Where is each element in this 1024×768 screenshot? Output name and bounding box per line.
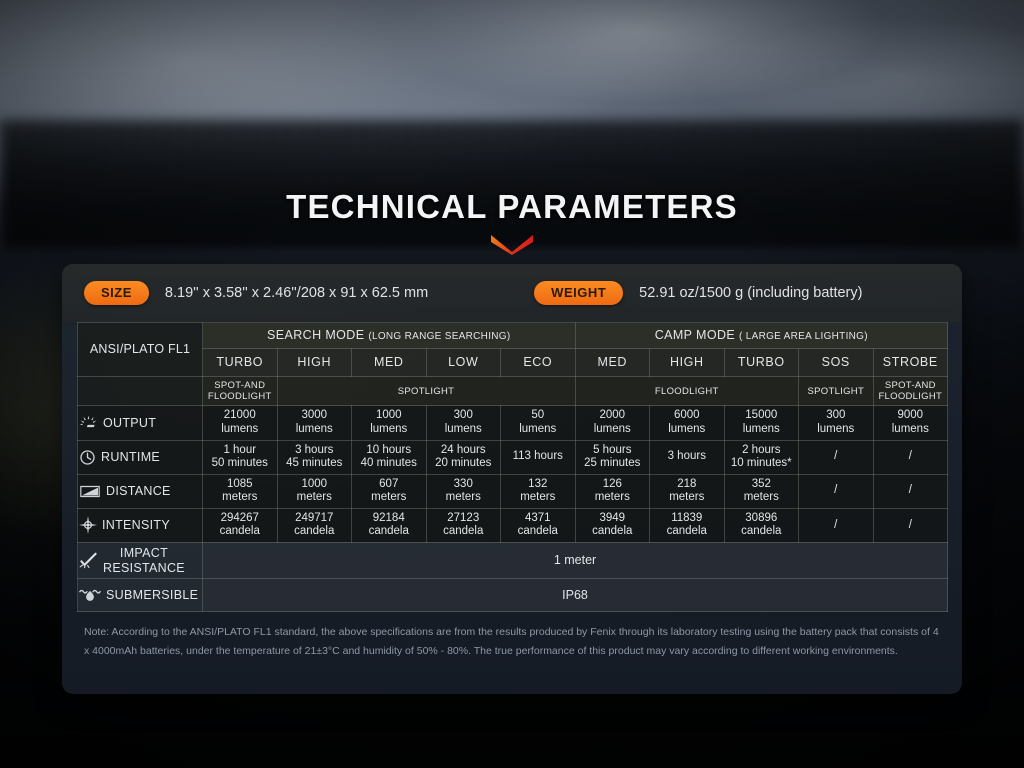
group-header-search: SEARCH MODE (LONG RANGE SEARCHING) <box>203 323 576 349</box>
cell-unit: 25 minutes <box>577 457 649 471</box>
cell-output-turbo-0: 21000lumens <box>203 406 278 440</box>
row-label-output: OUTPUT <box>78 406 203 440</box>
cell-primary: 11839 <box>651 512 723 526</box>
cell-distance-turbo-7: 352meters <box>724 474 799 508</box>
cell-output-high-1: 3000lumens <box>277 406 352 440</box>
row-label-text: RUNTIME <box>101 450 160 465</box>
cell-unit: candela <box>353 525 425 539</box>
cell-runtime-turbo-0: 1 hour50 minutes <box>203 440 278 474</box>
cell-unit: candela <box>502 525 574 539</box>
cell-distance-eco-4: 132meters <box>501 474 576 508</box>
cell-primary: / <box>875 519 947 533</box>
cell-intensity-high-6: 11839candela <box>650 508 725 542</box>
weight-badge: WEIGHT <box>534 281 623 305</box>
corner-cell: ANSI/PLATO FL1 <box>78 323 203 377</box>
corner-cell-blank <box>78 377 203 406</box>
cell-primary: 300 <box>428 409 500 423</box>
cell-output-strobe-9: 9000lumens <box>873 406 948 440</box>
mode-header-med-2: MED <box>352 349 427 377</box>
cell-unit: lumens <box>651 423 723 437</box>
cell-output-med-5: 2000lumens <box>575 406 650 440</box>
mode-header-eco-4: ECO <box>501 349 576 377</box>
mode-header-turbo-7: TURBO <box>724 349 799 377</box>
page-title: TECHNICAL PARAMETERS <box>0 188 1024 226</box>
table-data-body: OUTPUT21000lumens3000lumens1000lumens300… <box>78 406 948 543</box>
cell-primary: 218 <box>651 478 723 492</box>
clock-icon <box>79 449 96 466</box>
cell-primary: 330 <box>428 478 500 492</box>
cell-primary: / <box>875 484 947 498</box>
cell-output-med-2: 1000lumens <box>352 406 427 440</box>
cell-primary: 92184 <box>353 512 425 526</box>
size-weight-strip: SIZE 8.19'' x 3.58'' x 2.46''/208 x 91 x… <box>62 264 962 322</box>
cell-output-high-6: 6000lumens <box>650 406 725 440</box>
table-row: IMPACTRESISTANCE1 meter <box>78 542 948 579</box>
note-text: Note: According to the ANSI/PLATO FL1 st… <box>62 612 962 660</box>
cell-unit: meters <box>204 491 276 505</box>
cell-distance-high-1: 1000meters <box>277 474 352 508</box>
row-label-text: INTENSITY <box>102 518 170 533</box>
cell-unit: 20 minutes <box>428 457 500 471</box>
cell-primary: 27123 <box>428 512 500 526</box>
cell-primary: 5 hours <box>577 444 649 458</box>
cell-runtime-turbo-7: 2 hours10 minutes* <box>724 440 799 474</box>
cell-intensity-med-2: 92184candela <box>352 508 427 542</box>
table-row: DISTANCE1085meters1000meters607meters330… <box>78 474 948 508</box>
cell-primary: 1085 <box>204 478 276 492</box>
cell-primary: 3 hours <box>279 444 351 458</box>
beam-header-2: FLOODLIGHT <box>575 377 799 406</box>
cell-distance-strobe-9: / <box>873 474 948 508</box>
row-label-text: IMPACTRESISTANCE <box>103 546 185 576</box>
cell-intensity-turbo-0: 294267candela <box>203 508 278 542</box>
cell-impact-resistance-value: 1 meter <box>203 542 948 579</box>
cell-primary: 6000 <box>651 409 723 423</box>
table-row: INTENSITY294267candela249717candela92184… <box>78 508 948 542</box>
cell-distance-turbo-0: 1085meters <box>203 474 278 508</box>
beam-header-3: SPOTLIGHT <box>799 377 874 406</box>
cell-unit: lumens <box>726 423 798 437</box>
cell-primary: 1000 <box>353 409 425 423</box>
cell-unit: lumens <box>428 423 500 437</box>
beam-header-0: SPOT-ANDFLOODLIGHT <box>203 377 278 406</box>
size-value: 8.19'' x 3.58'' x 2.46''/208 x 91 x 62.5… <box>165 285 428 301</box>
cell-unit: candela <box>651 525 723 539</box>
cell-distance-sos-8: / <box>799 474 874 508</box>
cell-primary: 132 <box>502 478 574 492</box>
cell-unit: meters <box>502 491 574 505</box>
cell-unit: lumens <box>875 423 947 437</box>
cell-primary: 9000 <box>875 409 947 423</box>
row-label-line1: SUBMERSIBLE <box>106 588 198 602</box>
title-block: TECHNICAL PARAMETERS <box>0 188 1024 255</box>
cell-primary: 294267 <box>204 512 276 526</box>
cell-primary: 4371 <box>502 512 574 526</box>
cell-primary: 113 hours <box>502 450 574 464</box>
size-group: SIZE 8.19'' x 3.58'' x 2.46''/208 x 91 x… <box>84 281 428 305</box>
water-drop-icon <box>79 587 101 604</box>
mode-header-turbo-0: TURBO <box>203 349 278 377</box>
crosshair-icon <box>79 516 97 534</box>
cell-primary: 1 hour <box>204 444 276 458</box>
cell-output-eco-4: 50lumens <box>501 406 576 440</box>
cell-primary: 126 <box>577 478 649 492</box>
cell-unit: lumens <box>800 423 872 437</box>
cell-intensity-strobe-9: / <box>873 508 948 542</box>
cell-primary: 2000 <box>577 409 649 423</box>
specifications-table: ANSI/PLATO FL1 SEARCH MODE (LONG RANGE S… <box>77 322 948 612</box>
size-badge: SIZE <box>84 281 149 305</box>
cell-unit: lumens <box>204 423 276 437</box>
cell-runtime-low-3: 24 hours20 minutes <box>426 440 501 474</box>
group-name-camp: CAMP MODE <box>655 328 735 342</box>
cell-runtime-eco-4: 113 hours <box>501 440 576 474</box>
cell-primary: 1000 <box>279 478 351 492</box>
beam-header-4: SPOT-ANDFLOODLIGHT <box>873 377 948 406</box>
cell-runtime-high-1: 3 hours45 minutes <box>277 440 352 474</box>
cell-unit: candela <box>726 525 798 539</box>
cell-intensity-low-3: 27123candela <box>426 508 501 542</box>
cell-unit: meters <box>353 491 425 505</box>
cell-primary: 607 <box>353 478 425 492</box>
weight-group: WEIGHT 52.91 oz/1500 g (including batter… <box>534 281 862 305</box>
cell-primary: 10 hours <box>353 444 425 458</box>
impact-icon <box>79 552 98 569</box>
cell-distance-high-6: 218meters <box>650 474 725 508</box>
cell-primary: 3 hours <box>651 450 723 464</box>
group-sub-search: (LONG RANGE SEARCHING) <box>368 331 510 342</box>
row-label-text: SUBMERSIBLE <box>106 588 198 603</box>
cell-runtime-med-5: 5 hours25 minutes <box>575 440 650 474</box>
cell-output-sos-8: 300lumens <box>799 406 874 440</box>
table-group-header-row: ANSI/PLATO FL1 SEARCH MODE (LONG RANGE S… <box>78 323 948 349</box>
cell-unit: 40 minutes <box>353 457 425 471</box>
table-beam-row: SPOT-ANDFLOODLIGHTSPOTLIGHTFLOODLIGHTSPO… <box>78 377 948 406</box>
row-label-text: OUTPUT <box>103 416 156 431</box>
cell-distance-med-2: 607meters <box>352 474 427 508</box>
table-row: RUNTIME1 hour50 minutes3 hours45 minutes… <box>78 440 948 474</box>
beam-header-1: SPOTLIGHT <box>277 377 575 406</box>
table-row: SUBMERSIBLEIP68 <box>78 579 948 612</box>
cell-unit: candela <box>577 525 649 539</box>
cell-unit: meters <box>651 491 723 505</box>
cell-unit: lumens <box>353 423 425 437</box>
row-label-runtime: RUNTIME <box>78 440 203 474</box>
mode-header-low-3: LOW <box>426 349 501 377</box>
cell-unit: meters <box>577 491 649 505</box>
table-footer-body: IMPACTRESISTANCE1 meterSUBMERSIBLEIP68 <box>78 542 948 612</box>
cell-intensity-turbo-7: 30896candela <box>724 508 799 542</box>
cell-unit: meters <box>279 491 351 505</box>
cell-primary: 30896 <box>726 512 798 526</box>
cell-unit: meters <box>428 491 500 505</box>
mode-header-strobe-9: STROBE <box>873 349 948 377</box>
cell-distance-med-5: 126meters <box>575 474 650 508</box>
cell-unit: meters <box>726 491 798 505</box>
cell-intensity-eco-4: 4371candela <box>501 508 576 542</box>
cell-primary: 15000 <box>726 409 798 423</box>
cell-output-low-3: 300lumens <box>426 406 501 440</box>
group-name-search: SEARCH MODE <box>267 328 364 342</box>
cell-unit: 45 minutes <box>279 457 351 471</box>
cell-intensity-high-1: 249717candela <box>277 508 352 542</box>
cell-primary: / <box>800 450 872 464</box>
cell-unit: candela <box>279 525 351 539</box>
mode-header-high-6: HIGH <box>650 349 725 377</box>
table-mode-row: TURBOHIGHMEDLOWECOMEDHIGHTURBOSOSSTROBE <box>78 349 948 377</box>
table-row: OUTPUT21000lumens3000lumens1000lumens300… <box>78 406 948 440</box>
cell-primary: / <box>800 519 872 533</box>
row-label-intensity: INTENSITY <box>78 508 203 542</box>
cell-runtime-strobe-9: / <box>873 440 948 474</box>
row-label-distance: DISTANCE <box>78 474 203 508</box>
cell-primary: 24 hours <box>428 444 500 458</box>
group-header-camp: CAMP MODE ( LARGE AREA LIGHTING) <box>575 323 948 349</box>
cell-primary: 352 <box>726 478 798 492</box>
row-label-line1: IMPACT <box>120 546 168 560</box>
beam-icon <box>79 484 101 499</box>
cell-primary: 3000 <box>279 409 351 423</box>
cell-unit: lumens <box>502 423 574 437</box>
cell-primary: 50 <box>502 409 574 423</box>
cell-primary: / <box>800 484 872 498</box>
cell-runtime-high-6: 3 hours <box>650 440 725 474</box>
cell-unit: lumens <box>577 423 649 437</box>
row-label-line2: RESISTANCE <box>103 561 185 575</box>
mode-header-med-5: MED <box>575 349 650 377</box>
cell-unit: lumens <box>279 423 351 437</box>
cell-runtime-med-2: 10 hours40 minutes <box>352 440 427 474</box>
group-sub-camp: ( LARGE AREA LIGHTING) <box>739 331 868 342</box>
weight-value: 52.91 oz/1500 g (including battery) <box>639 285 862 301</box>
cell-unit: candela <box>428 525 500 539</box>
cell-output-turbo-7: 15000lumens <box>724 406 799 440</box>
cell-intensity-sos-8: / <box>799 508 874 542</box>
sunburst-icon <box>79 414 98 431</box>
cell-submersible-value: IP68 <box>203 579 948 612</box>
cell-unit: 50 minutes <box>204 457 276 471</box>
row-label-submersible: SUBMERSIBLE <box>78 579 203 612</box>
cell-primary: / <box>875 450 947 464</box>
cell-runtime-sos-8: / <box>799 440 874 474</box>
row-label-text: DISTANCE <box>106 484 171 499</box>
cell-intensity-med-5: 3949candela <box>575 508 650 542</box>
cell-primary: 2 hours <box>726 444 798 458</box>
mode-header-sos-8: SOS <box>799 349 874 377</box>
cell-unit: 10 minutes* <box>726 457 798 471</box>
cell-primary: 21000 <box>204 409 276 423</box>
mode-header-high-1: HIGH <box>277 349 352 377</box>
specifications-panel: SIZE 8.19'' x 3.58'' x 2.46''/208 x 91 x… <box>62 264 962 694</box>
cell-primary: 300 <box>800 409 872 423</box>
row-label-impact-resistance: IMPACTRESISTANCE <box>78 542 203 579</box>
cell-unit: candela <box>204 525 276 539</box>
cell-distance-low-3: 330meters <box>426 474 501 508</box>
chevron-down-icon <box>0 233 1024 255</box>
cell-primary: 3949 <box>577 512 649 526</box>
cell-primary: 249717 <box>279 512 351 526</box>
